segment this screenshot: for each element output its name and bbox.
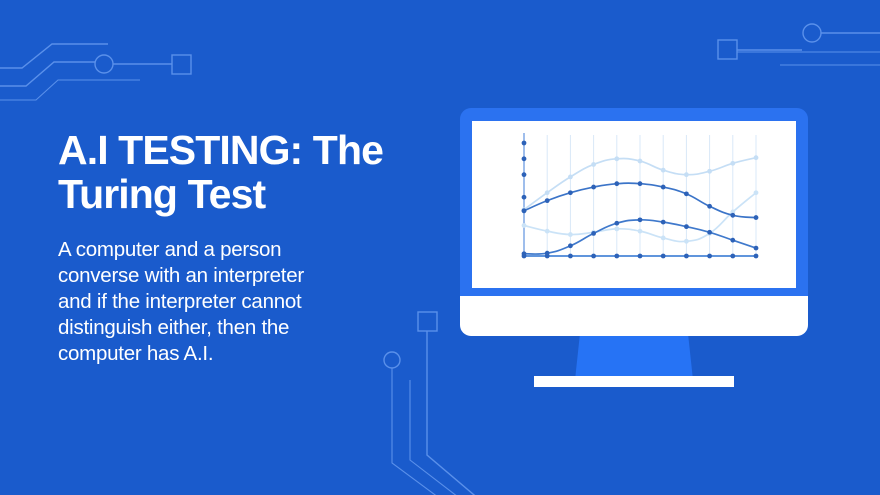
data-point bbox=[638, 229, 643, 234]
data-point bbox=[707, 254, 712, 259]
chart-series bbox=[522, 254, 759, 259]
data-point bbox=[661, 254, 666, 259]
data-point bbox=[684, 172, 689, 177]
data-point bbox=[591, 231, 596, 236]
y-axis-marker bbox=[522, 156, 527, 161]
data-point bbox=[568, 243, 573, 248]
data-point bbox=[754, 155, 759, 160]
data-point bbox=[684, 254, 689, 259]
data-point bbox=[707, 204, 712, 209]
data-point bbox=[661, 220, 666, 225]
data-point bbox=[707, 230, 712, 235]
data-point bbox=[614, 254, 619, 259]
line-chart bbox=[472, 121, 796, 288]
data-point bbox=[545, 198, 550, 203]
data-point bbox=[568, 190, 573, 195]
data-point bbox=[661, 168, 666, 173]
y-axis-marker bbox=[522, 195, 527, 200]
data-point bbox=[522, 251, 527, 256]
data-point bbox=[522, 223, 527, 228]
data-point bbox=[614, 221, 619, 226]
data-point bbox=[545, 229, 550, 234]
data-point bbox=[754, 246, 759, 251]
monitor-screen bbox=[472, 121, 796, 288]
data-point bbox=[568, 175, 573, 180]
data-point bbox=[684, 224, 689, 229]
data-point bbox=[638, 159, 643, 164]
data-point bbox=[545, 251, 550, 256]
data-point bbox=[545, 190, 550, 195]
data-point bbox=[568, 254, 573, 259]
data-point bbox=[730, 254, 735, 259]
monitor-chin bbox=[460, 296, 808, 336]
y-axis-marker bbox=[522, 141, 527, 146]
data-point bbox=[568, 232, 573, 237]
monitor-stand-neck bbox=[575, 336, 693, 380]
data-point bbox=[638, 181, 643, 186]
monitor-bezel bbox=[460, 108, 808, 336]
data-point bbox=[614, 156, 619, 161]
y-axis-marker bbox=[522, 208, 527, 213]
data-point bbox=[684, 239, 689, 244]
data-point bbox=[638, 254, 643, 259]
data-point bbox=[754, 254, 759, 259]
data-point bbox=[614, 226, 619, 231]
circuit-decoration-top-right bbox=[680, 0, 880, 100]
page-title: A.I TESTING: The Turing Test bbox=[58, 128, 428, 217]
data-point bbox=[661, 185, 666, 190]
data-point bbox=[591, 254, 596, 259]
data-point bbox=[730, 238, 735, 243]
page-description: A computer and a person converse with an… bbox=[58, 237, 428, 367]
data-point bbox=[591, 162, 596, 167]
data-point bbox=[754, 190, 759, 195]
data-point bbox=[730, 161, 735, 166]
monitor-illustration bbox=[460, 108, 808, 390]
circuit-decoration-top-left bbox=[0, 0, 230, 120]
data-point bbox=[661, 236, 666, 241]
data-point bbox=[591, 185, 596, 190]
data-point bbox=[730, 213, 735, 218]
data-point bbox=[684, 191, 689, 196]
data-point bbox=[638, 217, 643, 222]
slide-canvas: A.I TESTING: The Turing Test A computer … bbox=[0, 0, 880, 495]
monitor-stand-base bbox=[534, 376, 734, 387]
data-point bbox=[707, 169, 712, 174]
data-point bbox=[754, 215, 759, 220]
text-column: A.I TESTING: The Turing Test A computer … bbox=[58, 128, 428, 367]
data-point bbox=[614, 181, 619, 186]
y-axis-marker bbox=[522, 172, 527, 177]
